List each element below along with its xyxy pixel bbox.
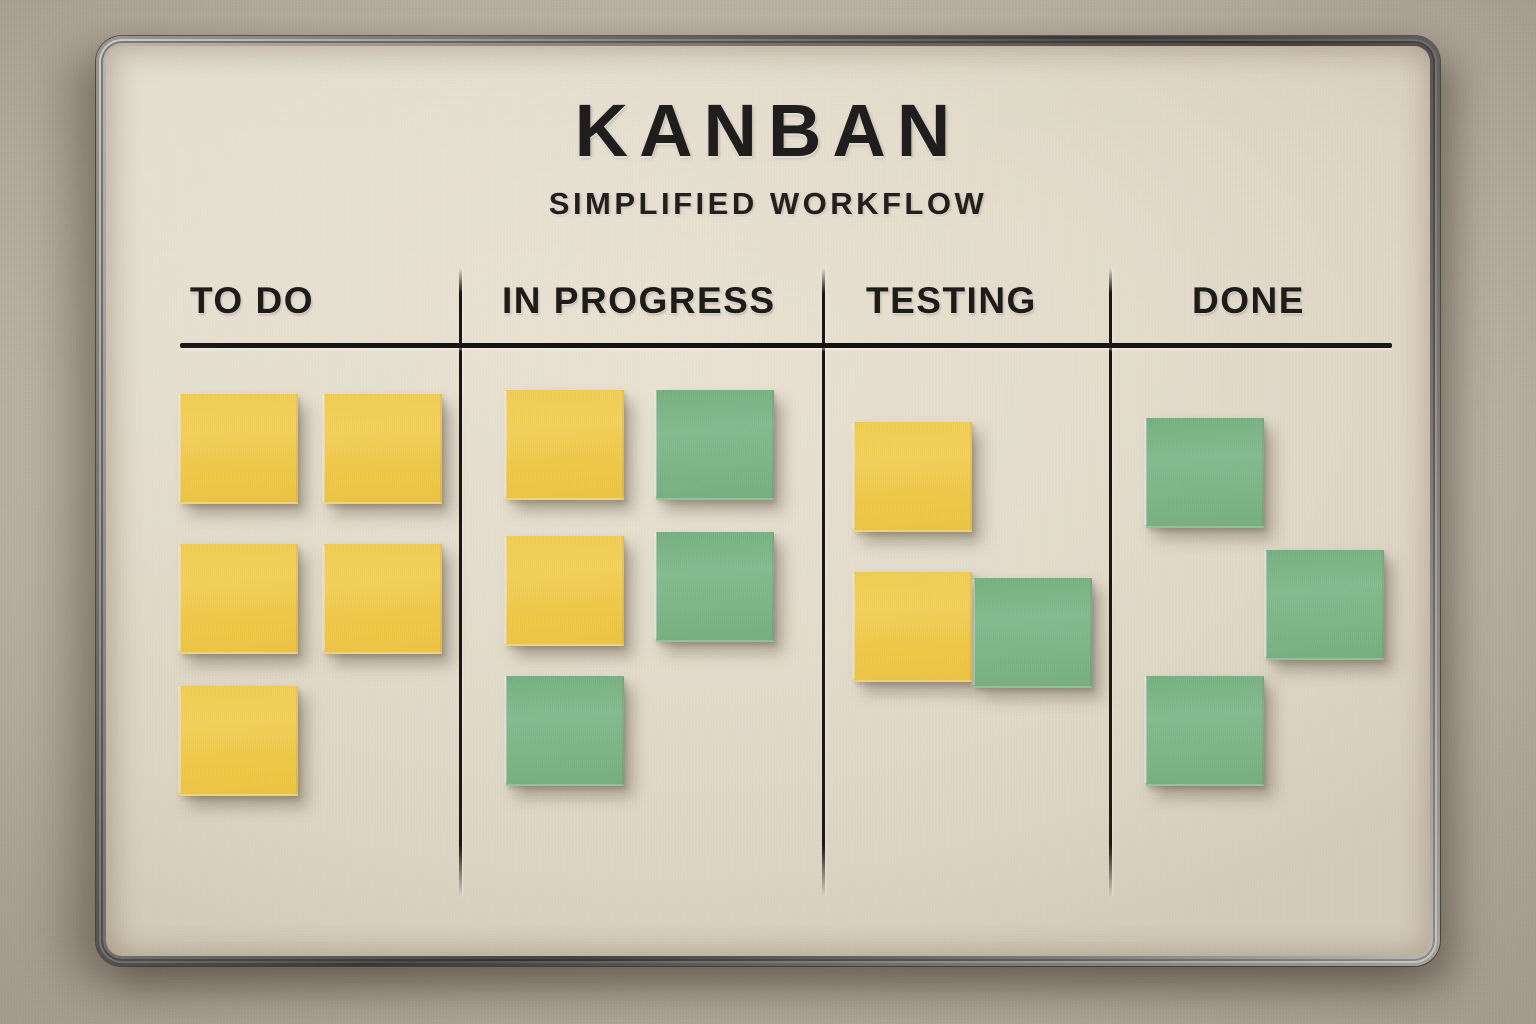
sticky-note-to-do-5[interactable]: [180, 686, 298, 796]
sticky-note-in-progress-1[interactable]: [506, 390, 624, 500]
sticky-note-testing-2[interactable]: [854, 572, 972, 682]
sticky-note-in-progress-4[interactable]: [656, 532, 774, 642]
sticky-note-to-do-3[interactable]: [180, 544, 298, 654]
sticky-note-to-do-4[interactable]: [324, 544, 442, 654]
board-frame-mid-bevel: KANBAN SIMPLIFIED WORKFLOW TO DOIN PROGR…: [101, 41, 1435, 961]
sticky-notes-layer: [106, 46, 1430, 956]
sticky-note-in-progress-3[interactable]: [506, 536, 624, 646]
sticky-note-to-do-2[interactable]: [324, 394, 442, 504]
board-frame-outer-bevel: KANBAN SIMPLIFIED WORKFLOW TO DOIN PROGR…: [99, 39, 1437, 963]
sticky-note-testing-1[interactable]: [854, 422, 972, 532]
kanban-board[interactable]: KANBAN SIMPLIFIED WORKFLOW TO DOIN PROGR…: [96, 36, 1440, 966]
sticky-note-to-do-1[interactable]: [180, 394, 298, 504]
sticky-note-done-2[interactable]: [1266, 550, 1384, 660]
sticky-note-testing-3[interactable]: [974, 578, 1092, 688]
sticky-note-done-3[interactable]: [1146, 676, 1264, 786]
sticky-note-in-progress-2[interactable]: [656, 390, 774, 500]
sticky-note-in-progress-5[interactable]: [506, 676, 624, 786]
sticky-note-done-1[interactable]: [1146, 418, 1264, 528]
board-frame-inner-bevel: KANBAN SIMPLIFIED WORKFLOW TO DOIN PROGR…: [103, 43, 1433, 959]
board-surface: KANBAN SIMPLIFIED WORKFLOW TO DOIN PROGR…: [106, 46, 1430, 956]
